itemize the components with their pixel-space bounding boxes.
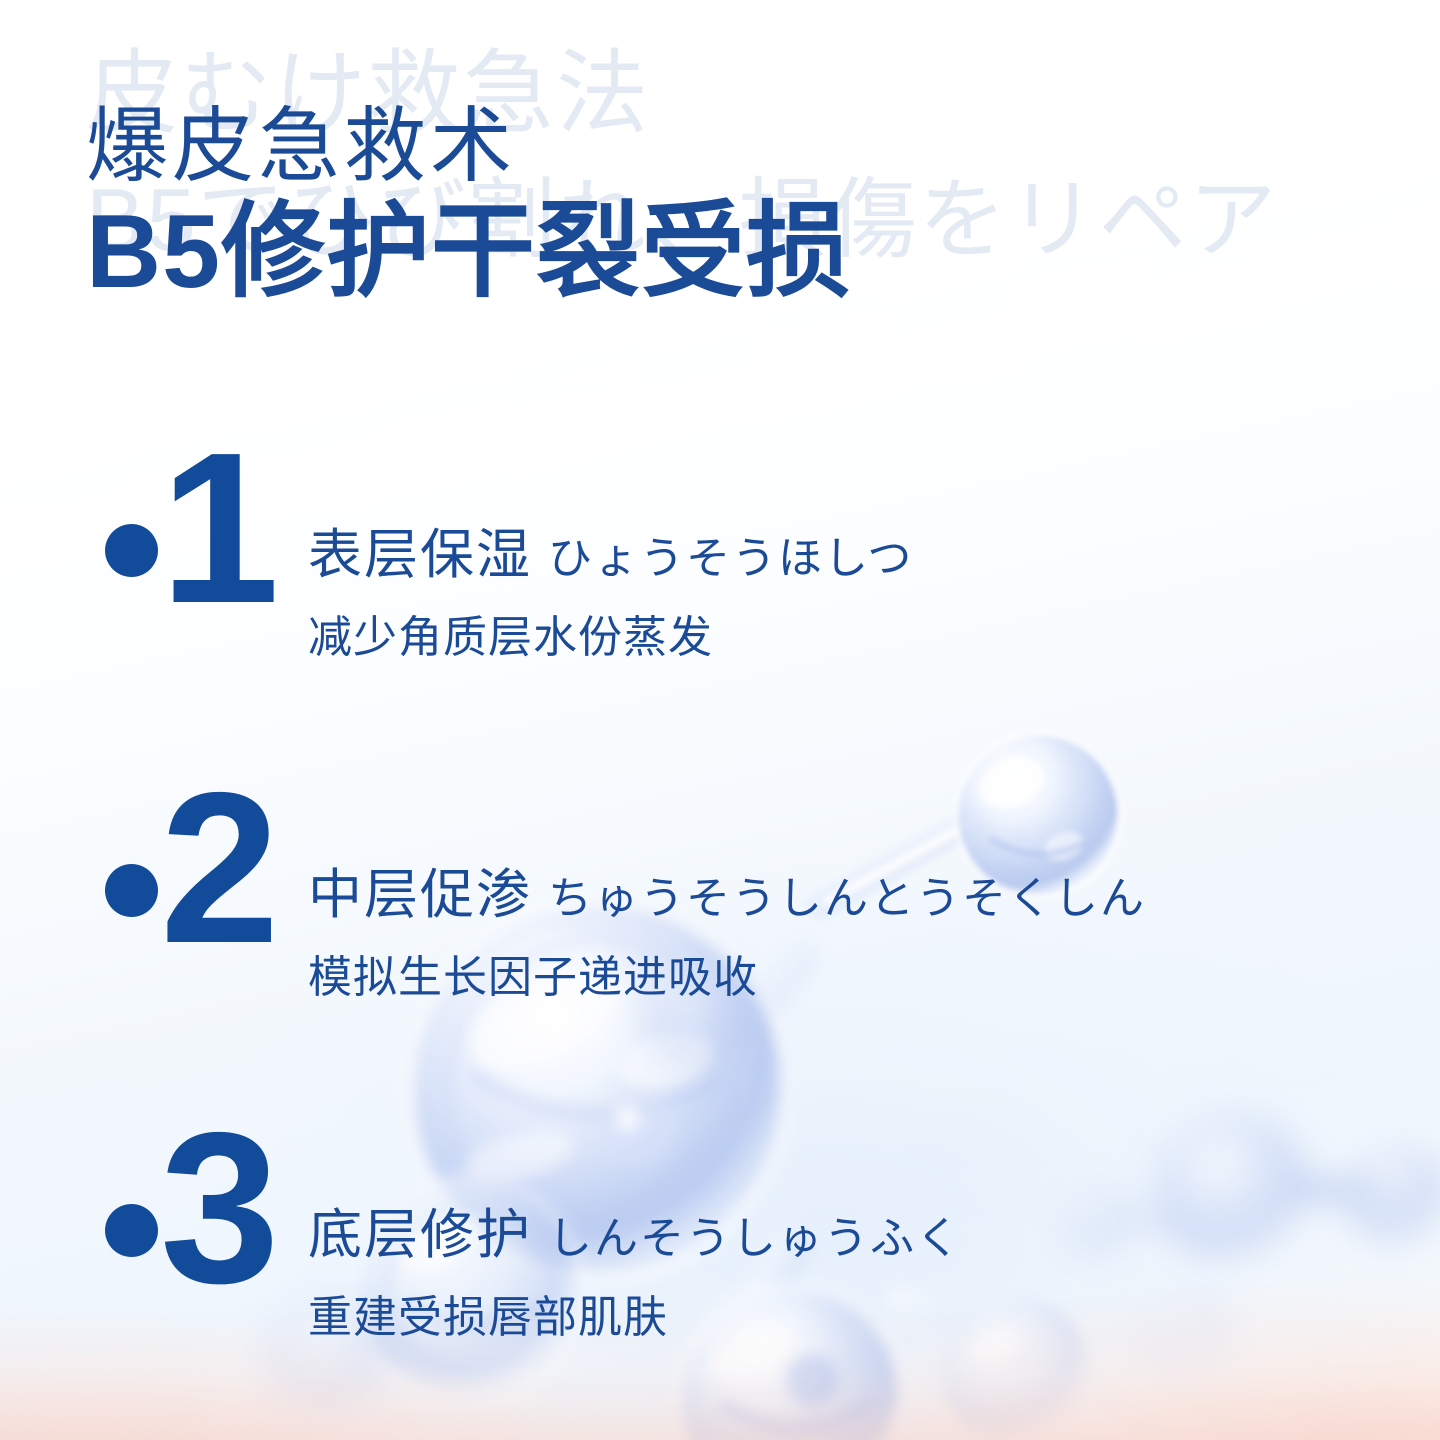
poster-canvas: 皮むけ救急法 B5でひび割れ、損傷をリペア 爆皮急救术 B5修护干裂受损 1 表… [0, 0, 1440, 1440]
headline-title-main: B5修护干裂受损 [86, 196, 851, 308]
benefit-kana-3: しんそうしゅうふく [548, 1214, 962, 1263]
bullet-dot-icon [105, 864, 158, 917]
benefit-kana-2: ちゅうそうしんとうそくしん [548, 874, 1146, 923]
benefit-marker-2: 2 [100, 772, 320, 1002]
headline-block: 爆皮急救术 B5修护干裂受损 [86, 104, 851, 308]
benefit-item-2: 2 中层促渗ちゅうそうしんとうそくしん 模拟生长因子递进吸收 [0, 772, 1440, 1112]
benefit-subtitle-2: 模拟生长因子递进吸收 [308, 941, 1146, 1005]
headline-subtitle-cn: 爆皮急救术 [86, 104, 851, 190]
benefit-number-1: 1 [160, 420, 276, 635]
benefit-list: 1 表层保湿ひょうそうほしつ 减少角质层水份蒸发 2 中层促渗ちゅうそうしんとう… [0, 432, 1440, 1440]
benefit-kana-1: ひょうそうほしつ [548, 534, 913, 583]
benefit-marker-3: 3 [100, 1112, 320, 1342]
benefit-marker-1: 1 [100, 432, 320, 662]
benefit-subtitle-1: 减少角质层水份蒸发 [308, 601, 913, 665]
benefit-subtitle-3: 重建受损唇部肌肤 [308, 1281, 962, 1345]
bullet-dot-icon [105, 524, 158, 577]
benefit-title-3: 底层修护 [308, 1205, 532, 1265]
benefit-item-1: 1 表层保湿ひょうそうほしつ 减少角质层水份蒸发 [0, 432, 1440, 772]
benefit-number-3: 3 [160, 1100, 276, 1315]
benefit-item-3: 3 底层修护しんそうしゅうふく 重建受损唇部肌肤 [0, 1112, 1440, 1440]
benefit-text-3: 底层修护しんそうしゅうふく 重建受损唇部肌肤 [308, 1190, 962, 1345]
benefit-title-row-2: 中层促渗ちゅうそうしんとうそくしん [308, 850, 1146, 929]
benefit-text-1: 表层保湿ひょうそうほしつ 减少角质层水份蒸发 [308, 510, 913, 665]
benefit-title-2: 中层促渗 [308, 865, 532, 925]
bullet-dot-icon [105, 1204, 158, 1257]
benefit-title-row-3: 底层修护しんそうしゅうふく [308, 1190, 962, 1269]
benefit-title-1: 表层保湿 [308, 525, 532, 585]
benefit-number-2: 2 [160, 760, 276, 975]
benefit-title-row-1: 表层保湿ひょうそうほしつ [308, 510, 913, 589]
benefit-text-2: 中层促渗ちゅうそうしんとうそくしん 模拟生长因子递进吸收 [308, 850, 1146, 1005]
